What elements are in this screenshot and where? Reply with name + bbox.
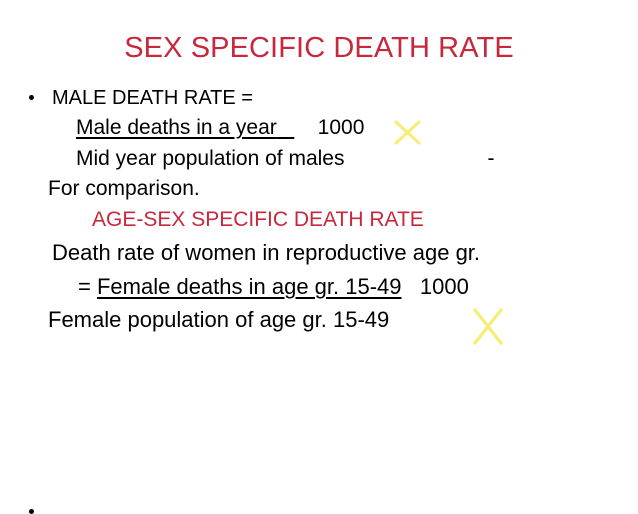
text-male-denominator: Mid year population of males xyxy=(76,147,344,170)
text-male-numerator: Male deaths in a year xyxy=(76,116,277,139)
line-for-comparison: For comparison. xyxy=(0,174,638,204)
text-female-equals: = xyxy=(78,274,91,299)
line-female-denominator: Female population of age gr. 15-49 xyxy=(0,303,638,336)
text-male-death-rate-equals: MALE DEATH RATE = xyxy=(52,87,253,109)
line-male-death-rate-label: MALE DEATH RATE = xyxy=(0,84,638,112)
line-age-sex-specific-death-rate: AGE-SEX SPECIFIC DEATH RATE xyxy=(0,204,638,236)
line-death-rate-women: Death rate of women in reproductive age … xyxy=(0,236,638,270)
page-title: SEX SPECIFIC DEATH RATE xyxy=(0,31,638,65)
slide-canvas: SEX SPECIFIC DEATH RATE MALE DEATH RATE … xyxy=(0,0,638,452)
text-for-comparison: For comparison. xyxy=(48,177,200,200)
text-female-denominator: Female population of age gr. 15-49 xyxy=(48,307,389,332)
text-age-sex-heading: AGE-SEX SPECIFIC DEATH RATE xyxy=(92,208,424,231)
text-male-factor: 1000 xyxy=(318,116,365,139)
line-male-denominator: Mid year population of males- xyxy=(0,143,638,174)
numerator-underline-tail xyxy=(277,116,295,139)
text-female-numerator: Female deaths in age gr. 15-49 xyxy=(97,274,402,299)
bullet-item-male-death-rate: MALE DEATH RATE = Male deaths in a year … xyxy=(0,84,638,236)
text-female-factor: 1000 xyxy=(420,274,469,299)
text-death-rate-women: Death rate of women in reproductive age … xyxy=(52,240,480,265)
bullet-dot-icon xyxy=(29,509,34,514)
line-male-numerator: Male deaths in a year 1000 xyxy=(0,112,638,143)
text-male-trailing-dash: - xyxy=(344,143,494,174)
slide-body: MALE DEATH RATE = Male deaths in a year … xyxy=(0,84,638,336)
line-female-numerator: = Female deaths in age gr. 15-49 1000 xyxy=(0,270,638,303)
bullet-item-age-sex-death-rate: Death rate of women in reproductive age … xyxy=(0,236,638,336)
